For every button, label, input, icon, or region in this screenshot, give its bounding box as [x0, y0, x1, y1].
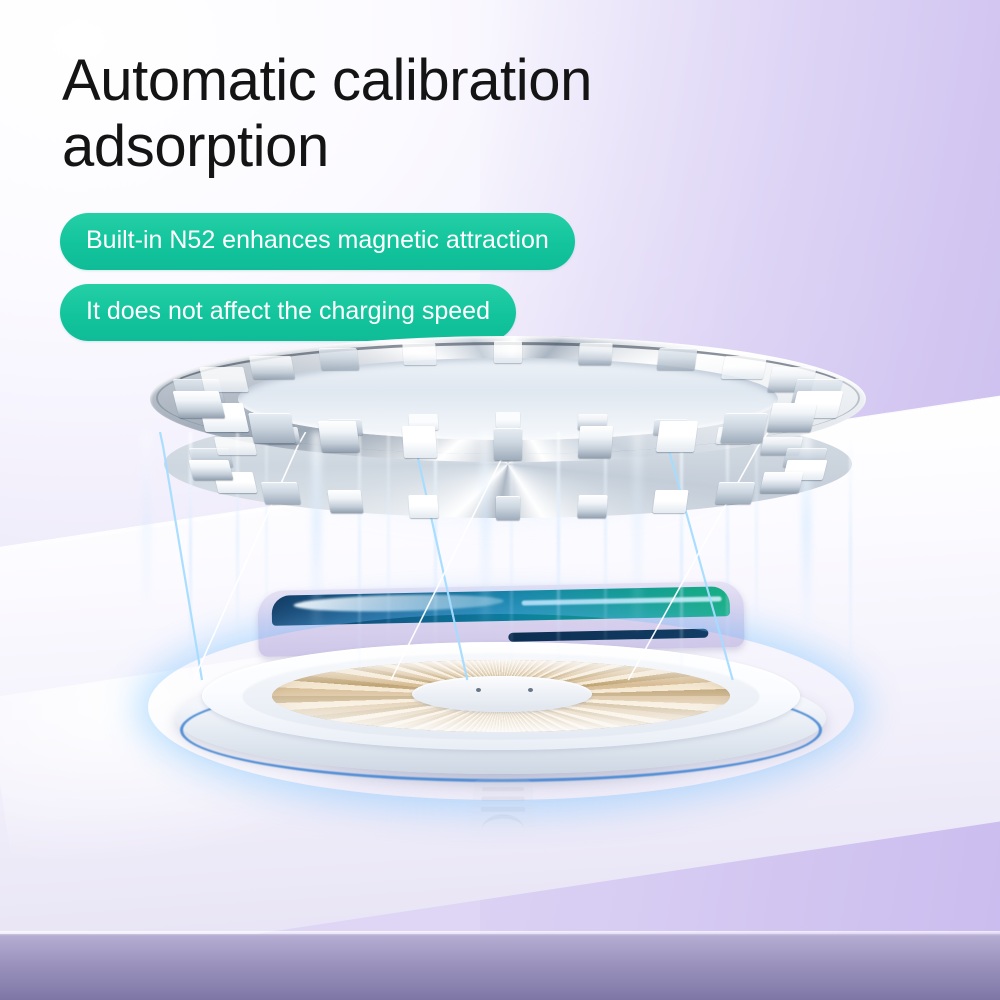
magnet-segment — [494, 341, 523, 363]
hub-dot-left — [476, 688, 481, 692]
magnet-segment — [173, 391, 226, 418]
magnet-segment — [199, 367, 249, 392]
headline-line-1: Automatic calibration — [62, 48, 822, 114]
magnet-segment — [759, 472, 802, 493]
magnet-segment — [496, 412, 521, 428]
magnet-segment — [652, 490, 688, 513]
magnet-segment — [766, 403, 817, 432]
magnet-segment — [720, 413, 767, 443]
headline-line-2: adsorption — [62, 114, 822, 180]
magnet-segment — [248, 413, 295, 443]
magnet-segment — [261, 482, 301, 504]
magnet-ring — [150, 336, 866, 516]
ring-body — [150, 336, 866, 516]
magnet-segment — [249, 356, 295, 379]
wireless-charging-pad — [176, 628, 826, 778]
magnet-segment — [656, 348, 697, 370]
magnet-segment — [408, 495, 439, 518]
magnet-segment — [319, 348, 360, 370]
magnet-segment — [577, 495, 608, 518]
magnet-segment — [578, 426, 614, 458]
magnet-segment — [494, 428, 523, 460]
coil-hub — [412, 676, 592, 712]
magnet-segment — [721, 356, 767, 379]
page-title: Automatic calibration adsorption — [62, 48, 822, 180]
magnet-segment — [403, 343, 438, 365]
product-banner: Automatic calibration adsorption Built-i… — [0, 0, 1000, 1000]
hub-dot-right — [528, 688, 533, 692]
feature-badge-magnetic: Built-in N52 enhances magnetic attractio… — [60, 213, 575, 270]
magnet-segment — [328, 490, 364, 513]
embossed-logo — [469, 779, 537, 838]
footer-band — [0, 934, 1000, 1000]
magnet-segment — [496, 496, 521, 519]
magnet-segment — [656, 421, 698, 452]
magnet-segment — [318, 421, 360, 452]
screen-glare-secondary — [522, 596, 722, 605]
magnet-segment — [189, 460, 234, 480]
screen-glare — [294, 593, 504, 613]
magnet-segment — [715, 482, 755, 504]
magnet-segment — [402, 426, 438, 458]
magnet-segment — [214, 437, 257, 455]
magnet-segment — [578, 343, 613, 365]
